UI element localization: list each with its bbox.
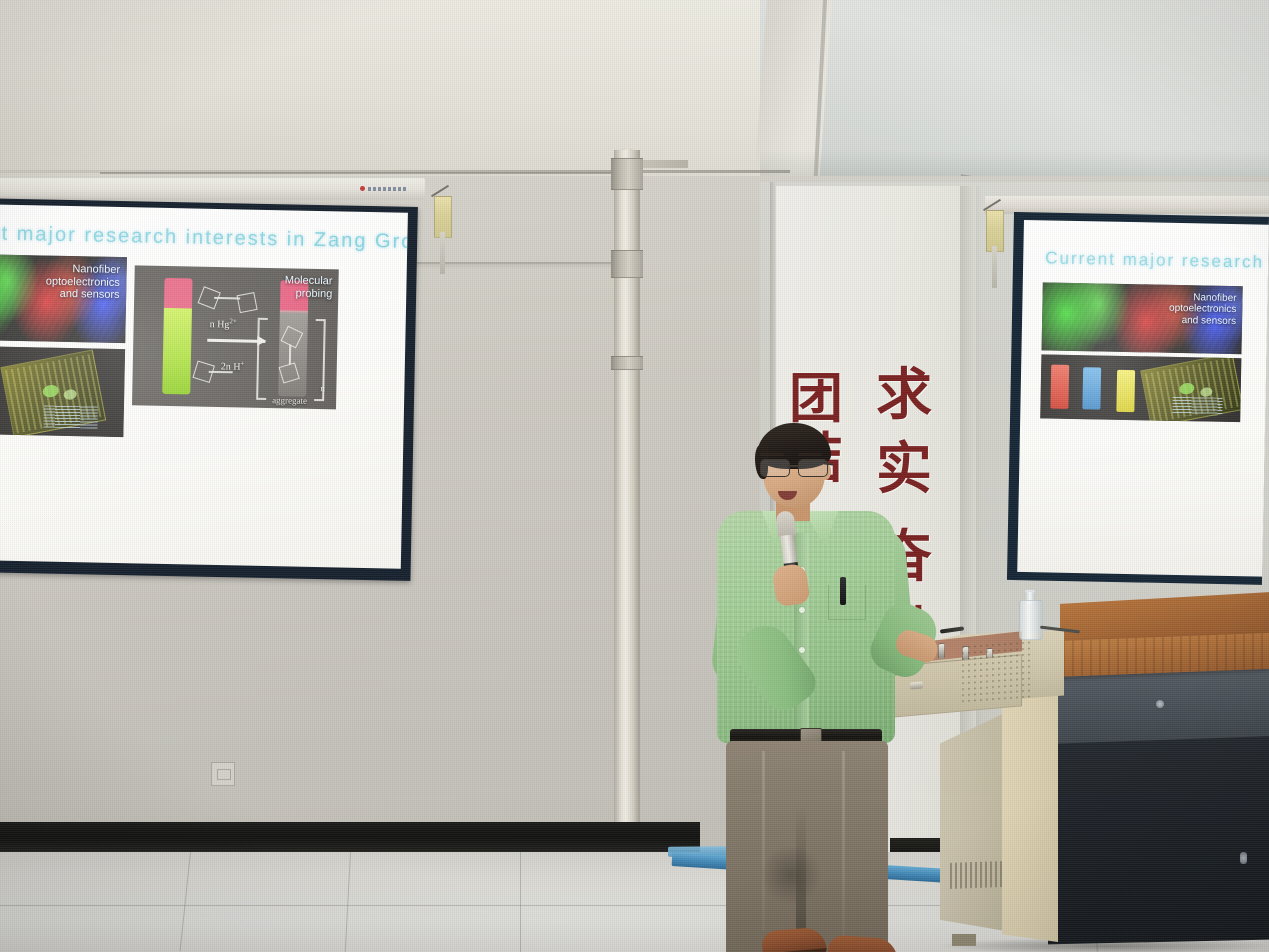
trouser-crease-right [842, 751, 845, 937]
screen-mount-leg-right [992, 246, 997, 288]
reaction-reagent-label: n Hg2+ [210, 317, 237, 331]
lectern-speaker-grille [960, 640, 1030, 703]
nanofiber-caption-line2: optoelectronics [1169, 303, 1236, 316]
left-slide-vials-photo [0, 346, 125, 437]
cuvette-body [278, 310, 308, 396]
pipe-collar-lower [611, 356, 643, 370]
lectern-panel-handle[interactable] [1240, 852, 1247, 864]
shoe-sole [763, 948, 827, 952]
chip-annotation-text [1172, 397, 1222, 416]
nanofiber-caption-line3: and sensors [1169, 315, 1236, 328]
screen-mount-leg-left [440, 232, 445, 274]
left-slide-title: ent major research interests in Zang Gro… [0, 222, 408, 254]
microphone-body [780, 534, 798, 565]
right-screen-surface[interactable]: Current major research in Nanofiber opto… [1017, 220, 1269, 577]
nanofiber-caption: Nanofiber optoelectronics and sensors [45, 262, 120, 301]
shirt-pocket [828, 585, 866, 620]
pipe-collar-upper [611, 158, 643, 190]
shirt-button [799, 607, 805, 613]
molecular-probing-caption: Molecular probing [284, 274, 332, 300]
right-slide-title: Current major research in [1045, 248, 1269, 273]
brand-text-mark [368, 187, 406, 191]
right-slide-vials-photo [1040, 354, 1241, 422]
reagent-charge: 2+ [229, 317, 237, 325]
reagent-text: n Hg [210, 319, 230, 330]
power-outlet[interactable] [211, 762, 235, 786]
vial-red [1050, 365, 1069, 409]
cuvette-body [162, 308, 192, 394]
baseboard-left [0, 822, 700, 856]
trouser-shadow [760, 845, 822, 905]
aggregate-label: aggregate [272, 395, 307, 406]
molecule-bond [289, 344, 291, 364]
lecture-hall-photo: 团 结 求 实 奋 进 ent major research interests… [0, 0, 1269, 952]
lectern-panel-screw [1156, 700, 1164, 708]
floor-tile-line [520, 852, 521, 952]
vial-yellow [1116, 370, 1135, 412]
cuvette-cap [164, 278, 193, 311]
lectern-foot [952, 934, 976, 946]
chip-annotation-text [44, 406, 98, 429]
left-screen-surface[interactable]: ent major research interests in Zang Gro… [0, 204, 408, 569]
lectern-lower-panel [1048, 726, 1269, 945]
eyeglasses [758, 459, 830, 476]
eyeglass-lens-left [760, 459, 790, 477]
lectern-vent [950, 861, 1002, 889]
screen-brand-label [360, 185, 406, 192]
byproduct-charge: + [241, 359, 245, 367]
pocket-pen [840, 577, 846, 605]
shirt-button [799, 647, 805, 653]
right-slide-fluorescence-photo: Nanofiber optoelectronics and sensors [1042, 282, 1243, 354]
vial-blue [1082, 367, 1101, 409]
nanofiber-caption: Nanofiber optoelectronics and sensors [1169, 292, 1237, 328]
bottle-body [1019, 600, 1043, 640]
ceiling-wire-left [100, 172, 630, 174]
ceiling-left-bay [0, 0, 790, 176]
presenter-eyebrow-right [798, 453, 822, 456]
pipe-collar-mid [611, 250, 643, 278]
polymer-bracket-right [314, 319, 326, 401]
polymer-bracket-left [256, 318, 268, 400]
shoe-right [827, 935, 899, 952]
left-slide-molecular-panel: Molecular probing n Hg2+ 2n H+ aggregate… [132, 265, 339, 409]
nanofiber-caption-line2: optoelectronics [46, 275, 120, 289]
molecule-ring [237, 292, 258, 313]
brand-dot-icon [360, 186, 365, 191]
molecular-caption-line2: probing [284, 287, 332, 301]
presenter-eyebrow-left [760, 453, 784, 456]
nanofiber-caption-line3: and sensors [45, 288, 119, 302]
water-bottle[interactable] [1019, 590, 1041, 638]
cuvette-green-emissive [162, 278, 192, 395]
left-slide: ent major research interests in Zang Gro… [0, 204, 408, 569]
left-slide-fluorescence-photo: Nanofiber optoelectronics and sensors [0, 254, 127, 343]
eyeglass-bridge [788, 465, 798, 467]
right-slide: Current major research in Nanofiber opto… [1017, 220, 1269, 577]
lectern-side-face [1002, 684, 1058, 942]
molecular-caption-line1: Molecular [285, 274, 333, 288]
presenter [700, 415, 950, 952]
